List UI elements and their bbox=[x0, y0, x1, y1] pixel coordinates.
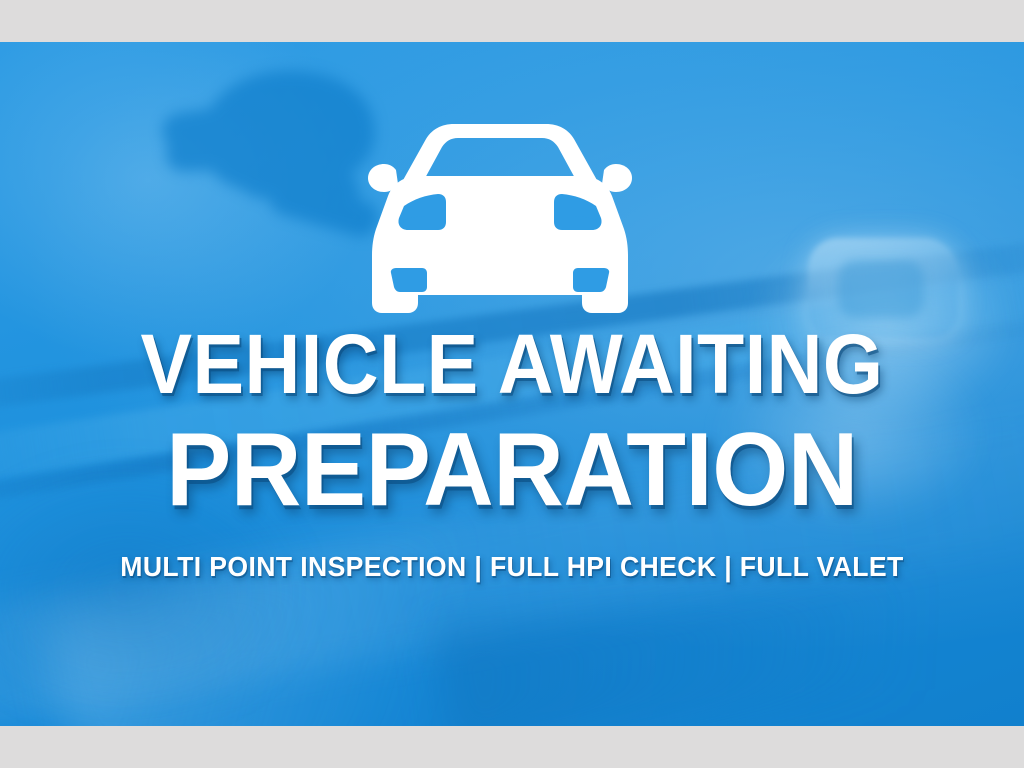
hand-finger-shape bbox=[160, 101, 272, 152]
headline-line-1: VEHICLE AWAITING bbox=[41, 322, 983, 406]
letterbox-bar-bottom bbox=[0, 726, 1024, 768]
hand-palm-shape bbox=[194, 57, 383, 204]
headline-line-2: PREPARATION bbox=[31, 418, 994, 522]
services-subtitle: MULTI POINT INSPECTION | FULL HPI CHECK … bbox=[26, 552, 999, 582]
hand-finger-shape bbox=[165, 134, 278, 172]
hand-finger-shape bbox=[265, 175, 383, 240]
car-front-icon bbox=[368, 120, 632, 324]
background-diagonal-streak bbox=[44, 502, 597, 726]
background-mirror-inner-shape bbox=[838, 260, 924, 318]
hand-silhouette-decoration bbox=[150, 70, 400, 245]
image-canvas: VEHICLE AWAITING PREPARATION MULTI POINT… bbox=[0, 0, 1024, 768]
letterbox-bar-top bbox=[0, 0, 1024, 42]
hand-finger-shape bbox=[238, 157, 362, 213]
